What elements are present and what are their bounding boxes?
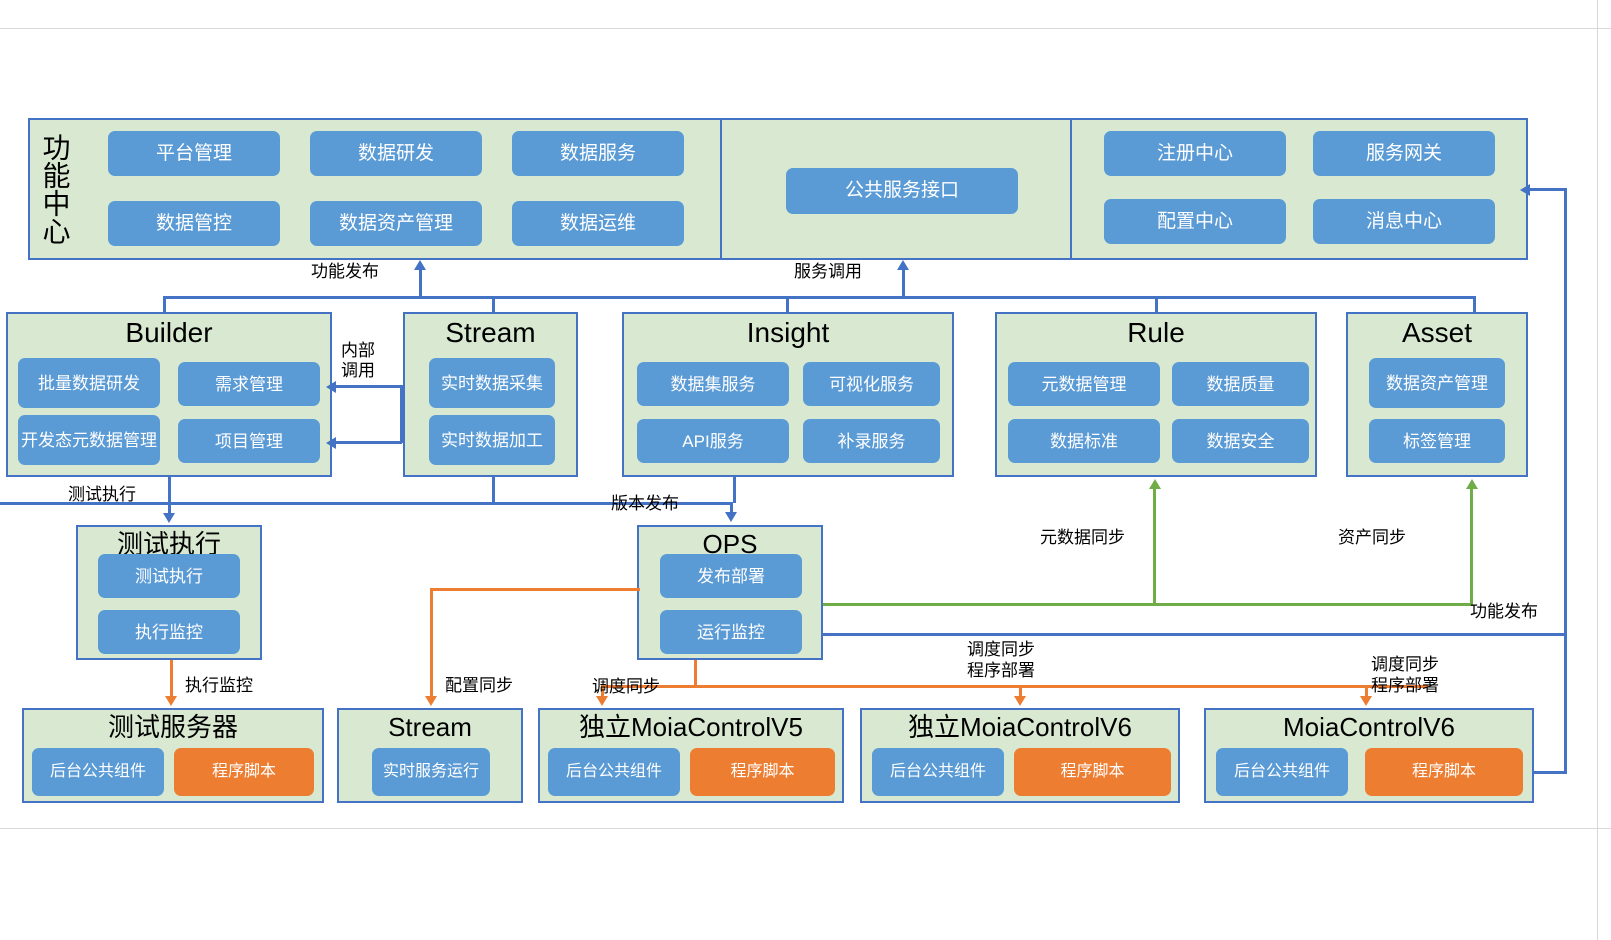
architecture-diagram: 功能中心 平台管理 数据研发 数据服务 数据管控 数据资产管理 数据运维 公共服… xyxy=(0,0,1611,940)
connector-function-publish-up xyxy=(419,270,422,297)
connector-asset-sync-v xyxy=(1470,489,1473,604)
panel-rule-title: Rule xyxy=(995,318,1317,348)
pill-data-standard[interactable]: 数据标准 xyxy=(1008,419,1160,463)
pill-program-script-4[interactable]: 程序脚本 xyxy=(1365,748,1523,796)
label-schedule-sync-1: 调度同步 xyxy=(592,677,660,697)
label-exec-monitor: 执行监控 xyxy=(185,676,253,696)
pill-tag-management[interactable]: 标签管理 xyxy=(1369,419,1505,463)
pill-runtime-monitoring[interactable]: 运行监控 xyxy=(660,610,802,654)
arrow-config-sync xyxy=(425,696,437,706)
connector-bus-to-stream xyxy=(492,296,495,314)
pill-backend-common-component-2[interactable]: 后台公共组件 xyxy=(548,748,680,796)
connector-stream-internal-vert xyxy=(400,385,403,443)
arrow-service-call-up xyxy=(897,260,909,270)
arrow-internal-call-1 xyxy=(326,381,336,393)
label-service-call: 服务调用 xyxy=(768,262,888,282)
panel-standalone-moiacontrolv5-title: 独立MoiaControlV5 xyxy=(538,712,844,742)
connector-right-return-vert xyxy=(1564,188,1567,773)
panel-moiacontrolv6-title: MoiaControlV6 xyxy=(1204,712,1534,742)
connector-right-return-h-bottom xyxy=(1534,771,1567,774)
arrow-right-return-into-fc xyxy=(1520,184,1530,196)
pill-dataset-service[interactable]: 数据集服务 xyxy=(637,362,789,406)
connector-builder-to-test-exec xyxy=(168,477,171,513)
pill-data-service[interactable]: 数据服务 xyxy=(512,131,684,176)
pill-data-asset-management[interactable]: 数据资产管理 xyxy=(310,201,482,246)
pill-platform-management[interactable]: 平台管理 xyxy=(108,131,280,176)
pill-data-asset-mgmt-asset[interactable]: 数据资产管理 xyxy=(1369,358,1505,408)
arrow-internal-call-2 xyxy=(326,437,336,449)
arrow-builder-to-test-exec xyxy=(163,513,175,523)
connector-stream-internal-h2 xyxy=(336,441,402,444)
arrow-asset-sync xyxy=(1466,479,1478,489)
panel-standalone-moiacontrolv6-title: 独立MoiaControlV6 xyxy=(860,712,1180,742)
pill-requirement-management[interactable]: 需求管理 xyxy=(178,362,320,406)
pill-data-quality[interactable]: 数据质量 xyxy=(1172,362,1309,406)
connector-stream-internal-h1 xyxy=(336,385,402,388)
connector-metadata-sync-v xyxy=(1153,489,1156,604)
label-config-sync: 配置同步 xyxy=(445,676,513,696)
pill-execution-monitoring[interactable]: 执行监控 xyxy=(98,610,240,654)
pill-realtime-data-processing[interactable]: 实时数据加工 xyxy=(429,415,555,465)
connector-orange-server-bus xyxy=(601,685,1428,688)
function-center-divider-2 xyxy=(1070,120,1072,258)
arrow-exec-monitor xyxy=(165,696,177,706)
connector-config-sync-v xyxy=(430,588,433,696)
pill-supplementary-service[interactable]: 补录服务 xyxy=(803,419,940,463)
connector-asset-sync-h xyxy=(1153,603,1473,606)
pill-visualization-service[interactable]: 可视化服务 xyxy=(803,362,940,406)
connector-bus-to-builder xyxy=(163,296,166,314)
page-frame-bottom xyxy=(0,828,1611,829)
connector-ops-down-to-orange-bus xyxy=(694,660,697,685)
label-internal-call-line1: 内部 xyxy=(341,341,375,361)
connector-stream-down-to-ops-bus xyxy=(492,477,495,503)
page-frame-right xyxy=(1597,0,1598,940)
pill-program-script-3[interactable]: 程序脚本 xyxy=(1014,748,1171,796)
connector-schedule-sync-3-v xyxy=(1365,685,1368,696)
pill-backend-common-component-1[interactable]: 后台公共组件 xyxy=(32,748,164,796)
connector-bus-to-asset xyxy=(1473,296,1476,314)
label-function-publish-top: 功能发布 xyxy=(285,262,405,282)
arrow-schedule-sync-1 xyxy=(596,696,608,706)
label-version-publish: 版本发布 xyxy=(611,494,679,514)
panel-stream-server-title: Stream xyxy=(337,712,523,742)
arrow-schedule-sync-2 xyxy=(1014,696,1026,706)
connector-insight-down-to-ops-bus xyxy=(733,477,736,503)
pill-batch-data-development[interactable]: 批量数据研发 xyxy=(18,358,160,408)
label-function-publish-right: 功能发布 xyxy=(1470,602,1538,622)
pill-config-center[interactable]: 配置中心 xyxy=(1104,199,1286,244)
arrow-metadata-sync xyxy=(1149,479,1161,489)
connector-metadata-sync-h xyxy=(823,603,1156,606)
panel-asset-title: Asset xyxy=(1346,318,1528,348)
pill-backend-common-component-3[interactable]: 后台公共组件 xyxy=(872,748,1004,796)
label-asset-sync: 资产同步 xyxy=(1338,528,1406,548)
pill-public-service-interface[interactable]: 公共服务接口 xyxy=(786,168,1018,214)
pill-program-script-1[interactable]: 程序脚本 xyxy=(174,748,314,796)
label-internal-call-line2: 调用 xyxy=(341,361,375,381)
function-center-label: 功能中心 xyxy=(38,122,72,256)
pill-registry-center[interactable]: 注册中心 xyxy=(1104,131,1286,176)
connector-schedule-sync-2-v xyxy=(1019,685,1022,696)
connector-right-return-h-top xyxy=(1530,188,1567,191)
pill-api-service[interactable]: API服务 xyxy=(637,419,789,463)
function-center-divider-1 xyxy=(720,120,722,258)
label-schedule-sync-2-line1: 调度同步 xyxy=(967,640,1035,660)
arrow-function-publish-up xyxy=(414,260,426,270)
bus-platform-top xyxy=(163,296,1475,299)
panel-test-server-title: 测试服务器 xyxy=(22,712,324,742)
pill-data-operations[interactable]: 数据运维 xyxy=(512,201,684,246)
label-schedule-sync-2-line2: 程序部署 xyxy=(967,661,1035,681)
panel-insight-title: Insight xyxy=(622,318,954,348)
pill-release-deployment[interactable]: 发布部署 xyxy=(660,554,802,598)
connector-bus-to-rule xyxy=(1155,296,1158,314)
pill-realtime-service-running[interactable]: 实时服务运行 xyxy=(372,748,490,796)
pill-data-development[interactable]: 数据研发 xyxy=(310,131,482,176)
pill-message-center[interactable]: 消息中心 xyxy=(1313,199,1495,244)
pill-dev-metadata-management[interactable]: 开发态元数据管理 xyxy=(18,415,160,465)
pill-program-script-2[interactable]: 程序脚本 xyxy=(690,748,835,796)
label-schedule-sync-3-line1: 调度同步 xyxy=(1371,655,1439,675)
page-frame-top xyxy=(0,28,1611,29)
connector-exec-monitor-v xyxy=(170,660,173,696)
connector-service-call-up xyxy=(902,270,905,297)
function-center-label-text: 功能中心 xyxy=(39,133,72,245)
pill-realtime-data-collection[interactable]: 实时数据采集 xyxy=(429,358,555,408)
pill-data-governance[interactable]: 数据管控 xyxy=(108,201,280,246)
connector-ops-right-bus xyxy=(823,633,1567,636)
connector-config-sync-h xyxy=(430,588,640,591)
pill-data-security[interactable]: 数据安全 xyxy=(1172,419,1309,463)
arrow-schedule-sync-3 xyxy=(1360,696,1372,706)
arrow-version-publish xyxy=(725,512,737,522)
panel-stream-title: Stream xyxy=(403,318,578,348)
connector-bus-to-insight xyxy=(786,296,789,314)
pill-service-gateway[interactable]: 服务网关 xyxy=(1313,131,1495,176)
pill-backend-common-component-4[interactable]: 后台公共组件 xyxy=(1216,748,1348,796)
label-metadata-sync: 元数据同步 xyxy=(1040,528,1125,548)
label-schedule-sync-3-line2: 程序部署 xyxy=(1371,676,1439,696)
pill-test-execution[interactable]: 测试执行 xyxy=(98,554,240,598)
pill-metadata-management[interactable]: 元数据管理 xyxy=(1008,362,1160,406)
pill-project-management[interactable]: 项目管理 xyxy=(178,419,320,463)
panel-builder-title: Builder xyxy=(6,318,332,348)
